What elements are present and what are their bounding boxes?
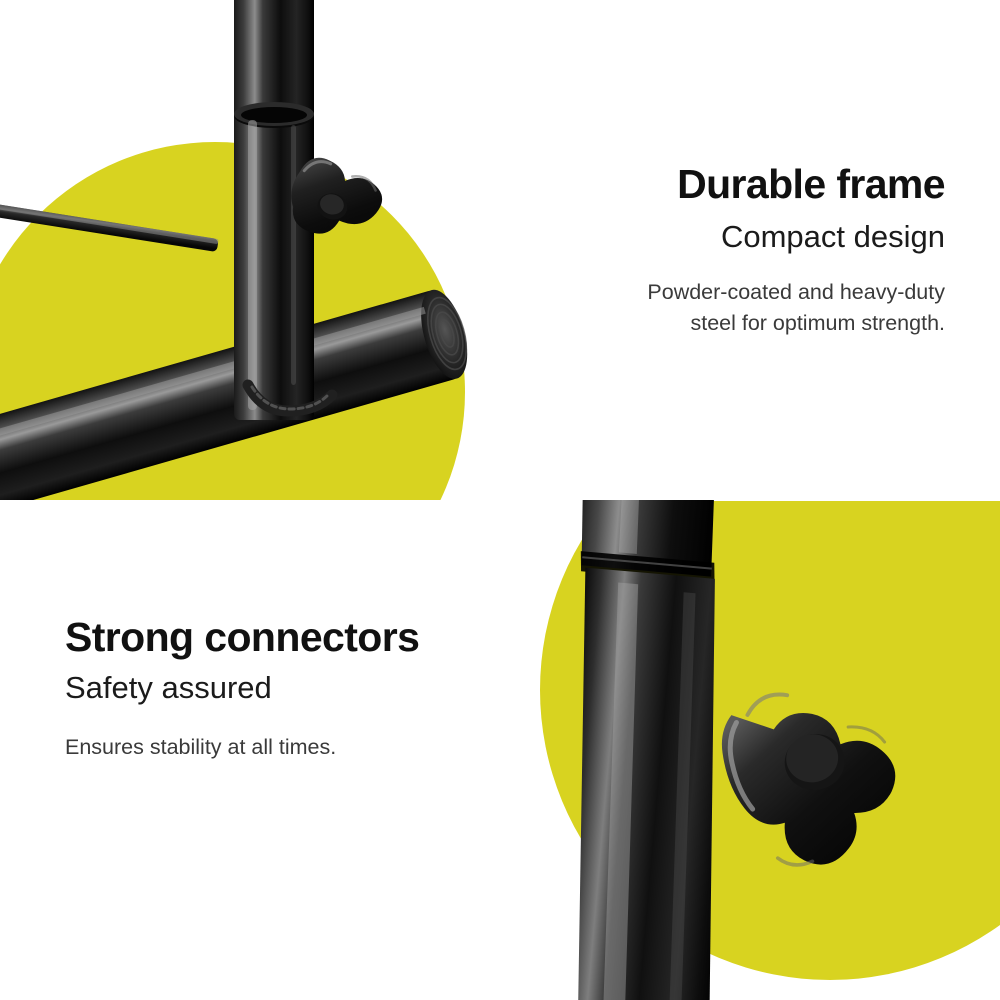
- durable-frame-body-line-2: steel for optimum strength.: [690, 311, 945, 335]
- feature-collage-page: Durable frame Compact design Powder-coat…: [0, 0, 1000, 1000]
- strong-connectors-headline: Strong connectors: [65, 615, 419, 661]
- strong-connectors-artwork: [500, 500, 1000, 1000]
- feature-text-strong-connectors: Strong connectors Safety assured Ensures…: [0, 500, 500, 1000]
- strong-connectors-body-line-1: Ensures stability at all times.: [65, 735, 336, 759]
- strong-connectors-body: Ensures stability at all times.: [65, 732, 336, 763]
- product-photo-durable-frame: [0, 0, 500, 500]
- durable-frame-body: Powder-coated and heavy-duty steel for o…: [647, 277, 945, 338]
- strong-connectors-subhead: Safety assured: [65, 669, 272, 706]
- durable-frame-headline: Durable frame: [677, 162, 945, 208]
- product-photo-strong-connectors: [500, 500, 1000, 1000]
- feature-text-durable-frame: Durable frame Compact design Powder-coat…: [500, 0, 1000, 500]
- durable-frame-body-line-1: Powder-coated and heavy-duty: [647, 280, 945, 304]
- durable-frame-subhead: Compact design: [721, 218, 945, 255]
- durable-frame-artwork: [0, 0, 500, 500]
